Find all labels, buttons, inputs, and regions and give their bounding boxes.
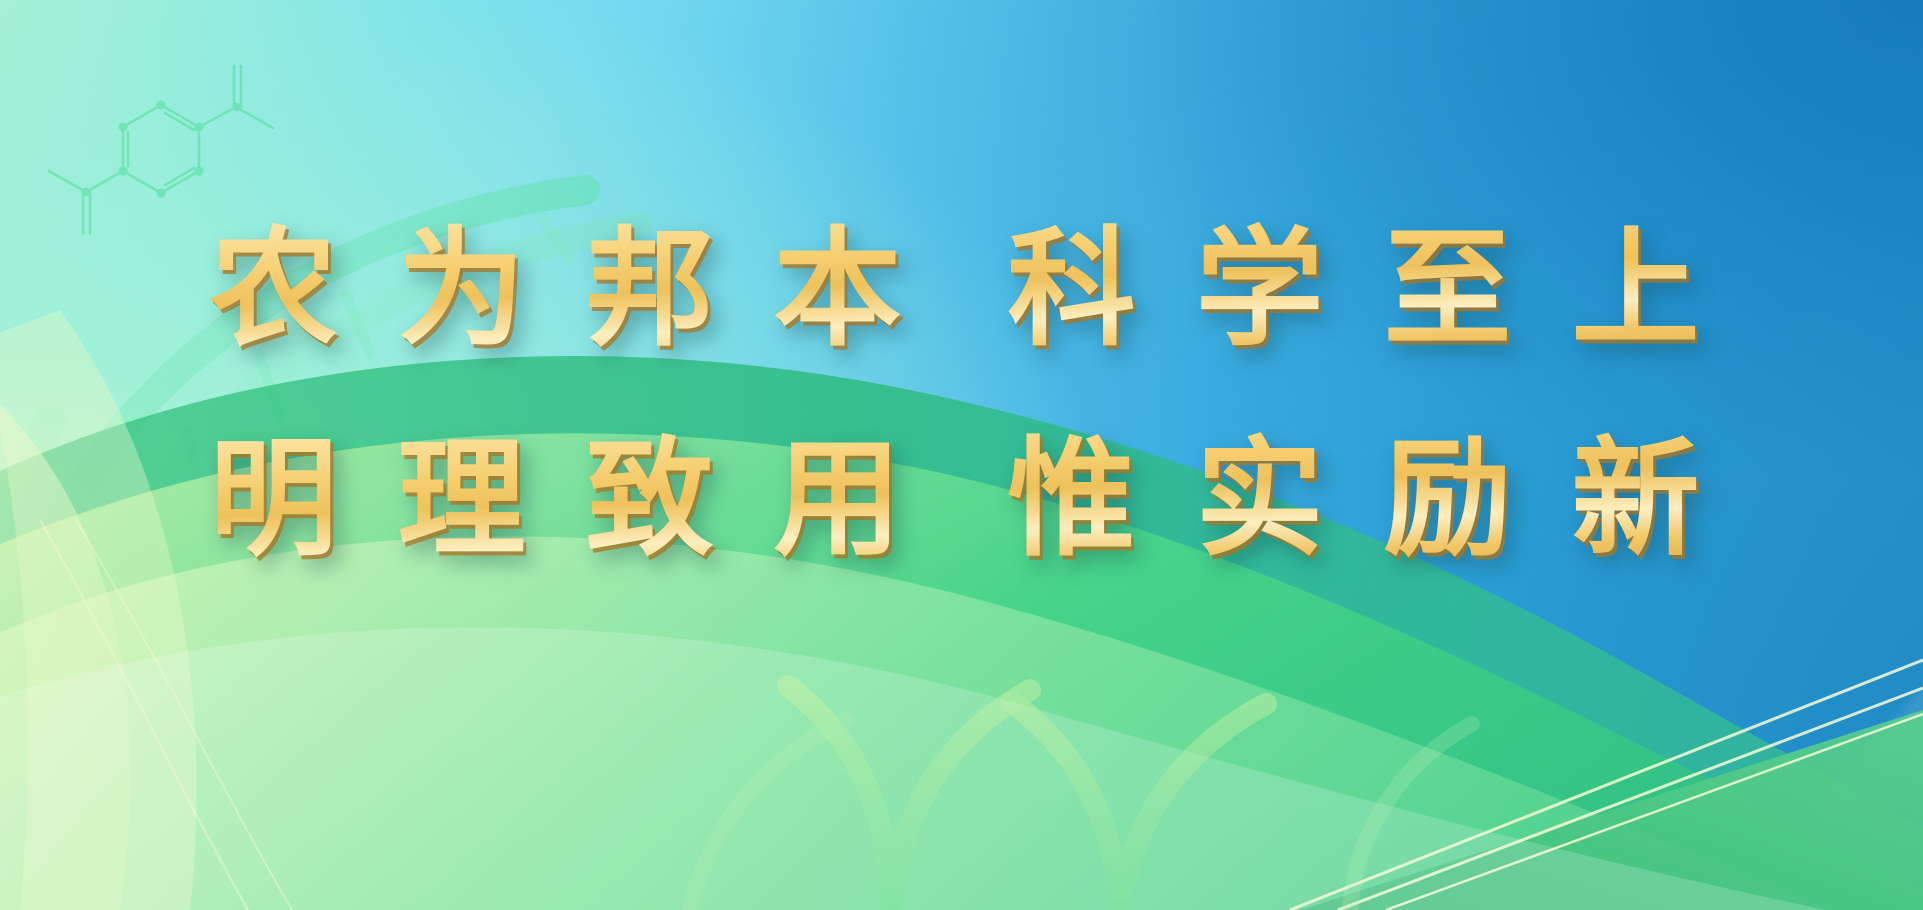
benzene-ring-molecule-icon <box>28 28 288 243</box>
wheat-sprig-icon <box>560 490 1560 910</box>
banner-canvas: 农 为 邦 本 科 学 至 上 明 理 致 用 惟 实 励 新 <box>0 0 1923 910</box>
